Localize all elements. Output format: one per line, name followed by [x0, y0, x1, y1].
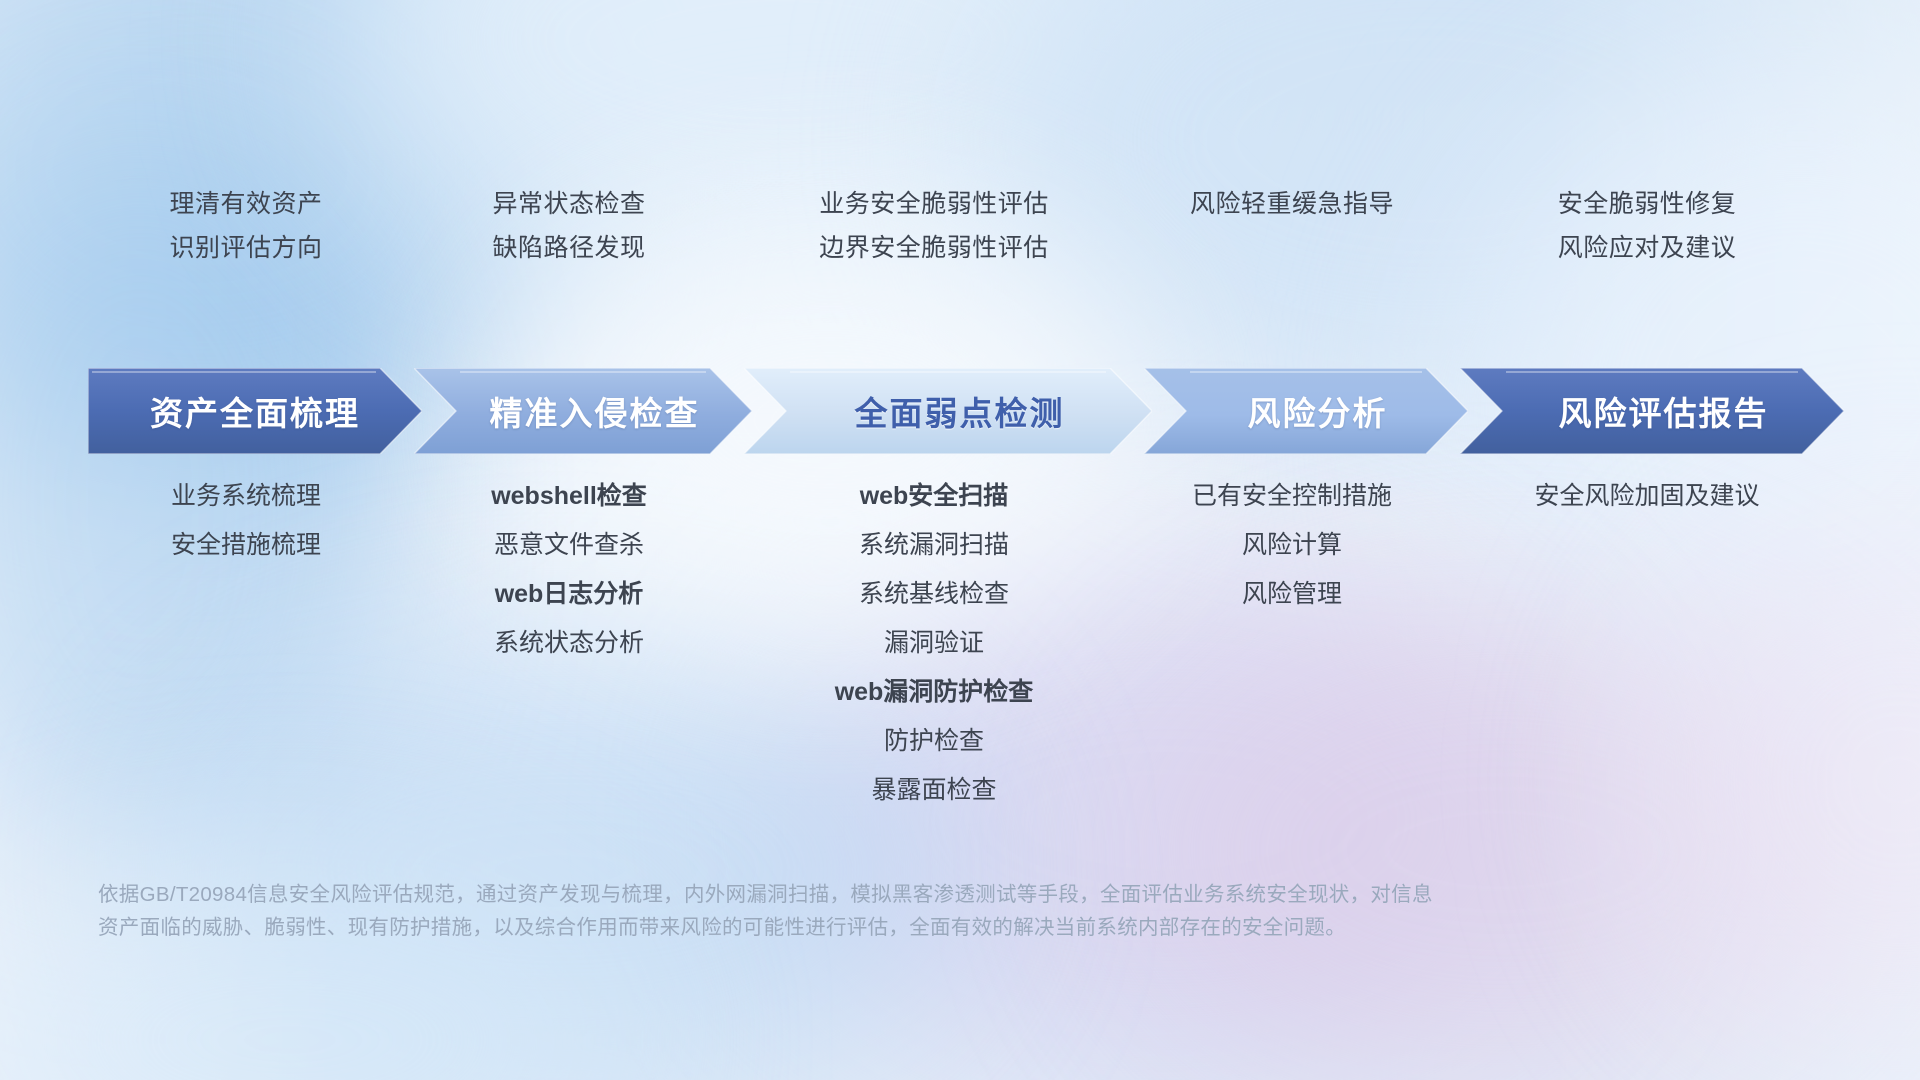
stage-caption: 风险应对及建议	[1450, 226, 1844, 270]
list-item: 系统基线检查	[734, 570, 1134, 619]
stage-detail-lists-row: 业务系统梳理安全措施梳理webshell检查恶意文件查杀web日志分析系统状态分…	[0, 472, 1920, 815]
process-step-2[interactable]: 精准入侵检查	[414, 368, 752, 454]
slide-canvas: 理清有效资产识别评估方向异常状态检查缺陷路径发现业务安全脆弱性评估边界安全脆弱性…	[0, 0, 1920, 1080]
list-item: 系统状态分析	[404, 619, 734, 668]
list-item: 恶意文件查杀	[404, 521, 734, 570]
list-item: web日志分析	[404, 570, 734, 619]
footer-note: 依据GB/T20984信息安全风险评估规范，通过资产发现与梳理，内外网漏洞扫描，…	[98, 878, 1658, 944]
list-item: webshell检查	[404, 472, 734, 521]
list-item: 系统漏洞扫描	[734, 521, 1134, 570]
list-item: 漏洞验证	[734, 619, 1134, 668]
footer-line-2: 资产面临的威胁、脆弱性、现有防护措施，以及综合作用而带来风险的可能性进行评估，全…	[98, 911, 1658, 944]
stage-caption-group-3: 业务安全脆弱性评估边界安全脆弱性评估	[734, 182, 1134, 292]
process-step-3[interactable]: 全面弱点检测	[744, 368, 1152, 454]
list-item: 已有安全控制措施	[1134, 472, 1450, 521]
stage-caption: 边界安全脆弱性评估	[734, 226, 1134, 270]
process-step-label: 精准入侵检查	[466, 387, 699, 435]
list-item: 业务系统梳理	[88, 472, 404, 521]
stage-caption: 理清有效资产	[88, 182, 404, 226]
process-chevron-band: 资产全面梳理精准入侵检查全面弱点检测风险分析风险评估报告	[88, 368, 1844, 454]
process-step-label: 风险分析	[1224, 387, 1387, 435]
stage-caption: 业务安全脆弱性评估	[734, 182, 1134, 226]
list-item: 安全风险加固及建议	[1450, 472, 1844, 521]
process-step-label: 全面弱点检测	[831, 387, 1064, 435]
process-step-1[interactable]: 资产全面梳理	[88, 368, 422, 454]
stage-caption-group-4: 风险轻重缓急指导	[1134, 182, 1450, 292]
list-item: 暴露面检查	[734, 766, 1134, 815]
stage-caption-group-5: 安全脆弱性修复风险应对及建议	[1450, 182, 1844, 292]
process-step-label: 风险评估报告	[1535, 387, 1768, 435]
stage-caption: 识别评估方向	[88, 226, 404, 270]
stage-captions-row: 理清有效资产识别评估方向异常状态检查缺陷路径发现业务安全脆弱性评估边界安全脆弱性…	[0, 182, 1920, 292]
stage-detail-list-1: 业务系统梳理安全措施梳理	[88, 472, 404, 815]
stage-caption: 风险轻重缓急指导	[1134, 182, 1450, 226]
stage-caption-group-2: 异常状态检查缺陷路径发现	[404, 182, 734, 292]
stage-caption-group-1: 理清有效资产识别评估方向	[88, 182, 404, 292]
stage-detail-list-4: 已有安全控制措施风险计算风险管理	[1134, 472, 1450, 815]
list-item: 防护检查	[734, 717, 1134, 766]
footer-line-1: 依据GB/T20984信息安全风险评估规范，通过资产发现与梳理，内外网漏洞扫描，…	[98, 878, 1658, 911]
process-step-4[interactable]: 风险分析	[1144, 368, 1468, 454]
process-step-label: 资产全面梳理	[150, 387, 360, 435]
stage-detail-list-5: 安全风险加固及建议	[1450, 472, 1844, 815]
stage-detail-list-2: webshell检查恶意文件查杀web日志分析系统状态分析	[404, 472, 734, 815]
slide-content: 理清有效资产识别评估方向异常状态检查缺陷路径发现业务安全脆弱性评估边界安全脆弱性…	[0, 0, 1920, 1080]
stage-detail-list-3: web安全扫描系统漏洞扫描系统基线检查漏洞验证web漏洞防护检查防护检查暴露面检…	[734, 472, 1134, 815]
list-item: web漏洞防护检查	[734, 668, 1134, 717]
stage-caption: 安全脆弱性修复	[1450, 182, 1844, 226]
stage-caption: 缺陷路径发现	[404, 226, 734, 270]
stage-caption: 异常状态检查	[404, 182, 734, 226]
process-step-5[interactable]: 风险评估报告	[1460, 368, 1844, 454]
list-item: 风险管理	[1134, 570, 1450, 619]
list-item: web安全扫描	[734, 472, 1134, 521]
list-item: 风险计算	[1134, 521, 1450, 570]
list-item: 安全措施梳理	[88, 521, 404, 570]
